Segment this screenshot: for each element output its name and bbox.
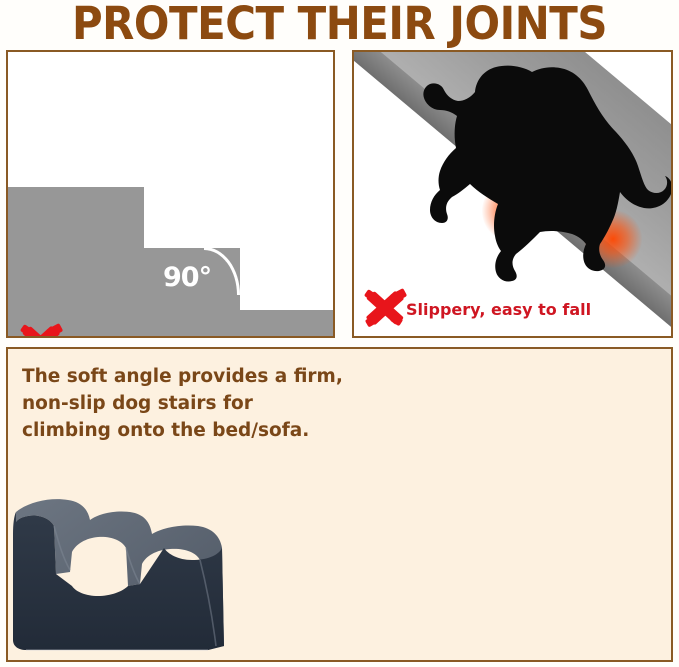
panel-product-benefits: The soft angle provides a firm, non-slip… — [6, 347, 673, 662]
x-mark-icon — [364, 289, 406, 327]
product-description: The soft angle provides a firm, non-slip… — [22, 363, 352, 444]
page-title: PROTECT THEIR JOINTS — [24, 0, 655, 49]
stair-block-high — [8, 187, 144, 338]
caption-slippery-easy-to-fall: Slippery, easy to fall — [406, 300, 591, 319]
caption-difficulty-of-climbing: Difficulty of climbing — [62, 335, 249, 338]
panel-difficulty-of-climbing: 90° Difficulty of climbing — [6, 50, 335, 338]
stair-block-low — [240, 310, 335, 338]
foam-dog-stairs-illustration — [10, 464, 280, 654]
x-mark-icon — [20, 324, 62, 338]
panel-slippery-easy-to-fall: Slippery, easy to fall — [352, 50, 673, 338]
dog-silhouette-icon — [372, 54, 671, 304]
infographic-root: PROTECT THEIR JOINTS 90° Difficulty of c… — [0, 0, 679, 667]
